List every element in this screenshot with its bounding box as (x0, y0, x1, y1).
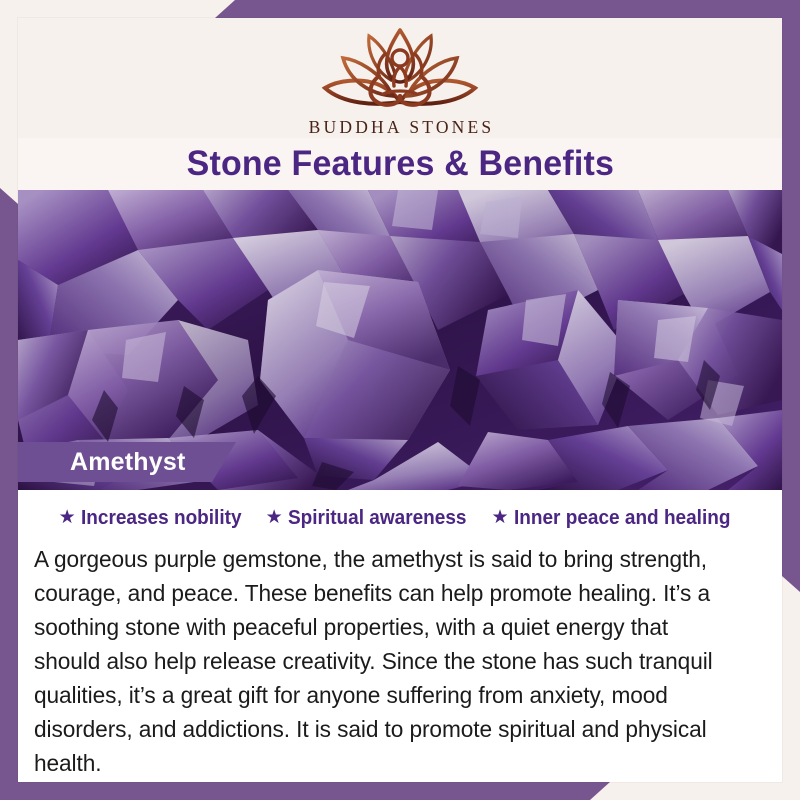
benefits-row: ★ Increases nobility ★ Spiritual awarene… (18, 490, 782, 530)
stone-name-text: Amethyst (70, 448, 186, 477)
brand-logo: BUDDHA STONES (18, 24, 782, 138)
frame-band-right (782, 0, 800, 592)
brand-name: BUDDHA STONES (306, 117, 495, 138)
product-info-card: BUDDHA STONES Stone Features & Benefits (0, 0, 800, 800)
benefit-item: ★ Spiritual awareness (266, 507, 476, 530)
benefit-label: Increases nobility (81, 507, 242, 530)
star-icon: ★ (59, 508, 76, 527)
description-section: ★ Increases nobility ★ Spiritual awarene… (18, 490, 782, 782)
star-icon: ★ (492, 508, 509, 527)
benefit-label: Spiritual awareness (288, 507, 466, 530)
brand-header: BUDDHA STONES (18, 18, 782, 138)
star-icon: ★ (266, 508, 283, 527)
stone-photo: Amethyst (18, 190, 782, 490)
benefit-item: ★ Increases nobility (59, 507, 250, 530)
frame-band-bottom (0, 782, 610, 800)
benefit-item: ★ Inner peace and healing (492, 507, 742, 530)
stone-description: A gorgeous purple gemstone, the amethyst… (34, 542, 737, 780)
frame-band-left (0, 188, 18, 800)
lotus-meditation-figure-icon (305, 24, 495, 116)
stone-name-label: Amethyst (18, 442, 236, 482)
benefit-label: Inner peace and healing (514, 507, 730, 530)
page-title: Stone Features & Benefits (186, 144, 613, 184)
frame-band-top (215, 0, 800, 18)
title-bar: Stone Features & Benefits (18, 138, 782, 190)
card-body: BUDDHA STONES Stone Features & Benefits (18, 18, 782, 782)
